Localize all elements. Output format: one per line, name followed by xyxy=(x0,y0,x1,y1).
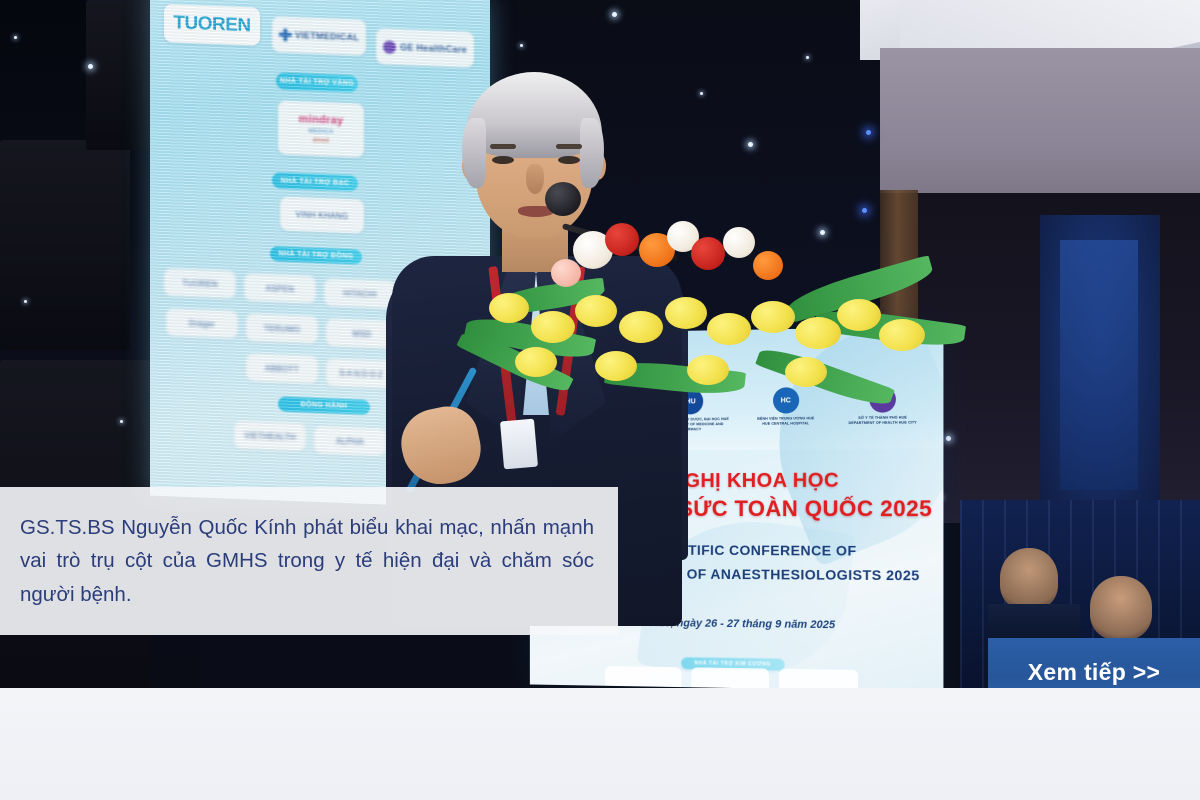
banner-sponsor-tile xyxy=(779,669,858,688)
flower-white xyxy=(723,227,755,258)
venue-blue-panel-inner xyxy=(1060,240,1138,490)
sponsor-logo-vietmedical-label: VIETMEDICAL xyxy=(295,30,359,42)
eye-right xyxy=(558,156,580,164)
flower-yellow xyxy=(515,347,557,377)
flower-yellow xyxy=(575,295,617,327)
star-light xyxy=(520,44,523,47)
flower-red xyxy=(605,223,639,256)
technician-person xyxy=(1090,576,1152,640)
flower-yellow xyxy=(785,357,827,387)
flower-yellow xyxy=(619,311,663,343)
led-category-label-bronze: NHÀ TÀI TRỢ ĐỒNG xyxy=(270,246,362,265)
led-category-label-companion: ĐỒNG HÀNH xyxy=(278,396,370,415)
eyebrow-right xyxy=(556,144,582,149)
sponsor-tile-label: SANDOZ xyxy=(339,368,384,379)
stage-truss-left xyxy=(86,0,156,150)
flower-yellow xyxy=(595,351,637,381)
sponsor-logo-tuoren: TUOREN xyxy=(164,4,260,46)
sponsor-tile-label: TERUMO xyxy=(264,323,300,333)
led-category-label-silver: NHÀ TÀI TRỢ BẠC xyxy=(272,172,358,191)
cross-icon xyxy=(279,28,292,41)
sponsor-tile: VIETHEALTH xyxy=(234,421,306,452)
flower-red xyxy=(691,237,725,270)
sponsor-logo-vietmedical: VIETMEDICAL xyxy=(272,16,366,56)
flower-yellow xyxy=(837,299,881,331)
sponsor-sub-medica: MEDICA xyxy=(308,129,333,136)
flower-yellow xyxy=(879,319,925,351)
star-light-blue xyxy=(862,208,867,213)
sponsor-tile: TUOREN xyxy=(164,268,236,299)
microphone-head xyxy=(545,182,581,216)
flower-yellow xyxy=(489,293,529,323)
flower-yellow xyxy=(687,355,729,385)
flower-yellow xyxy=(751,301,795,333)
sponsor-logo-tuoren-label: TUOREN xyxy=(173,12,250,37)
star-light xyxy=(88,64,93,69)
eye-left xyxy=(492,156,514,164)
star-light xyxy=(612,12,617,17)
sponsor-tile: ASPEN xyxy=(244,273,316,304)
star-light-blue xyxy=(866,130,871,135)
flower-orange xyxy=(753,251,783,280)
star-light xyxy=(14,36,17,39)
ge-monogram-icon xyxy=(383,40,396,53)
read-more-button[interactable]: Xem tiếp >> xyxy=(988,638,1200,688)
sponsor-tile-label: ALPHA xyxy=(336,436,364,446)
photo-card: TUOREN VIETMEDICAL GE HealthCare NHÀ TÀI… xyxy=(0,0,1200,800)
flower-pink xyxy=(551,259,581,287)
sponsor-logo-vinhkhang: VINH KHANG xyxy=(280,196,364,233)
read-more-button-label: Xem tiếp >> xyxy=(1028,659,1160,686)
sponsor-tile-label: ABBOTT xyxy=(265,363,299,373)
nose xyxy=(526,164,544,194)
sponsor-tile-label: ASPEN xyxy=(266,283,295,293)
sponsor-logo-mindray: mindray MEDICA dmed xyxy=(278,100,364,157)
sponsor-tile: ALPHA xyxy=(314,426,386,457)
star-light xyxy=(806,56,809,59)
star-light xyxy=(748,142,753,147)
flower-yellow xyxy=(795,317,841,349)
sponsor-logo-ge-healthcare-label: GE HealthCare xyxy=(400,42,467,55)
sponsor-tile: TERUMO xyxy=(246,313,318,344)
hair-side-left xyxy=(462,118,486,188)
stage-speaker-stack-left xyxy=(0,140,130,350)
flower-yellow xyxy=(665,297,707,329)
eyebrow-left xyxy=(490,144,516,149)
sponsor-logo-mindray-label: mindray xyxy=(299,113,344,127)
sponsor-tile: ABBOTT xyxy=(246,353,318,384)
star-light xyxy=(120,420,123,423)
led-category-label-gold: NHÀ TÀI TRỢ VÀNG xyxy=(276,72,358,92)
flower-yellow xyxy=(707,313,751,345)
sponsor-tile-label: VIETHEALTH xyxy=(244,431,296,442)
sponsor-tile-label: Dräger xyxy=(189,318,215,328)
banner-sponsor-tile xyxy=(605,666,681,688)
sponsor-sub-dmed: dmed xyxy=(313,138,329,145)
caption-text: GS.TS.BS Nguyễn Quốc Kính phát biểu khai… xyxy=(20,511,594,611)
caption-overlay: GS.TS.BS Nguyễn Quốc Kính phát biểu khai… xyxy=(0,487,618,635)
sponsor-tile-label: MSD xyxy=(353,329,372,339)
footer-bar: HBG THE MICE LEADER Hòa Bình Event Group… xyxy=(0,688,1200,800)
star-light xyxy=(24,300,27,303)
sponsor-tile-label: HITACHI xyxy=(343,288,377,298)
sponsor-logo-vinhkhang-label: VINH KHANG xyxy=(296,210,349,221)
sponsor-tile-label: TUOREN xyxy=(182,278,218,288)
star-light xyxy=(700,92,703,95)
podium-flower-arrangement xyxy=(455,215,975,445)
sponsor-tile: Dräger xyxy=(166,308,238,339)
banner-sponsor-tile xyxy=(691,667,769,688)
technician-person xyxy=(1000,548,1058,610)
conference-photo: TUOREN VIETMEDICAL GE HealthCare NHÀ TÀI… xyxy=(0,0,1200,688)
venue-wall-upper xyxy=(880,48,1200,193)
flower-yellow xyxy=(531,311,575,343)
